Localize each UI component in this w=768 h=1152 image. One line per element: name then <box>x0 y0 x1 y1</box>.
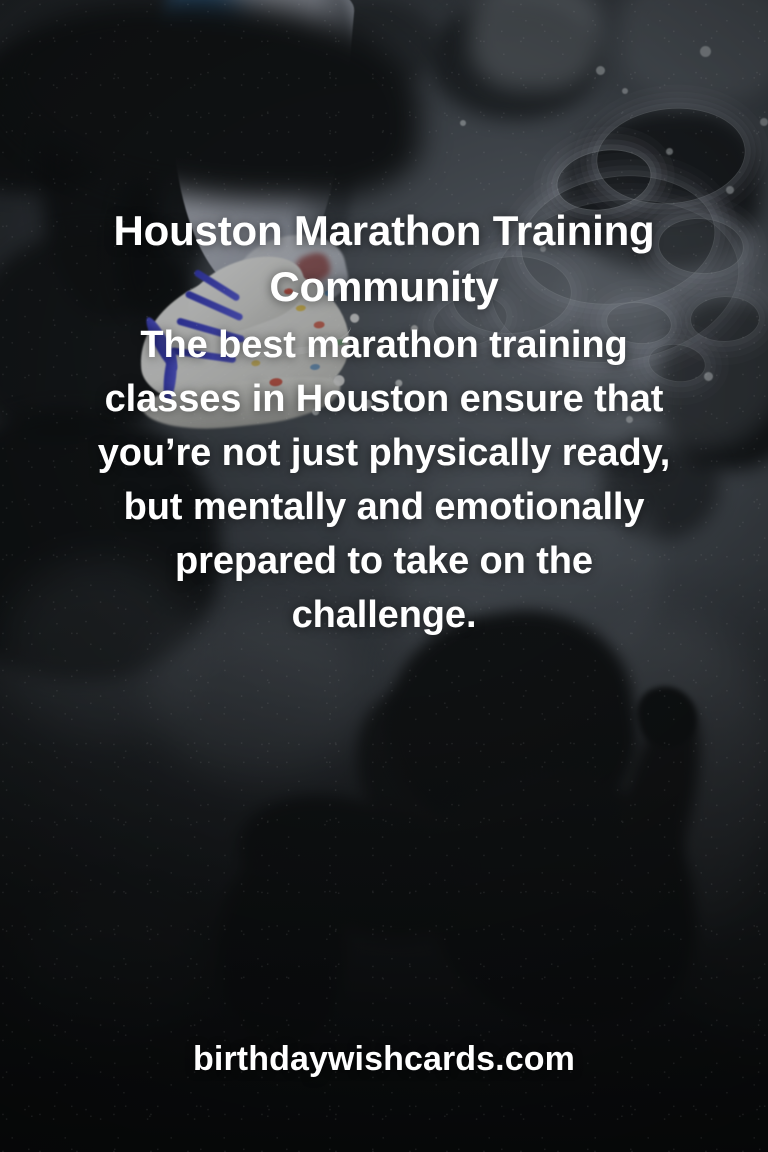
marathon-quote-card: Houston Marathon Training Community The … <box>0 0 768 1152</box>
text-content: Houston Marathon Training Community The … <box>0 0 768 1152</box>
body-text: The best marathon training classes in Ho… <box>84 318 684 642</box>
page-title: Houston Marathon Training Community <box>54 203 714 315</box>
